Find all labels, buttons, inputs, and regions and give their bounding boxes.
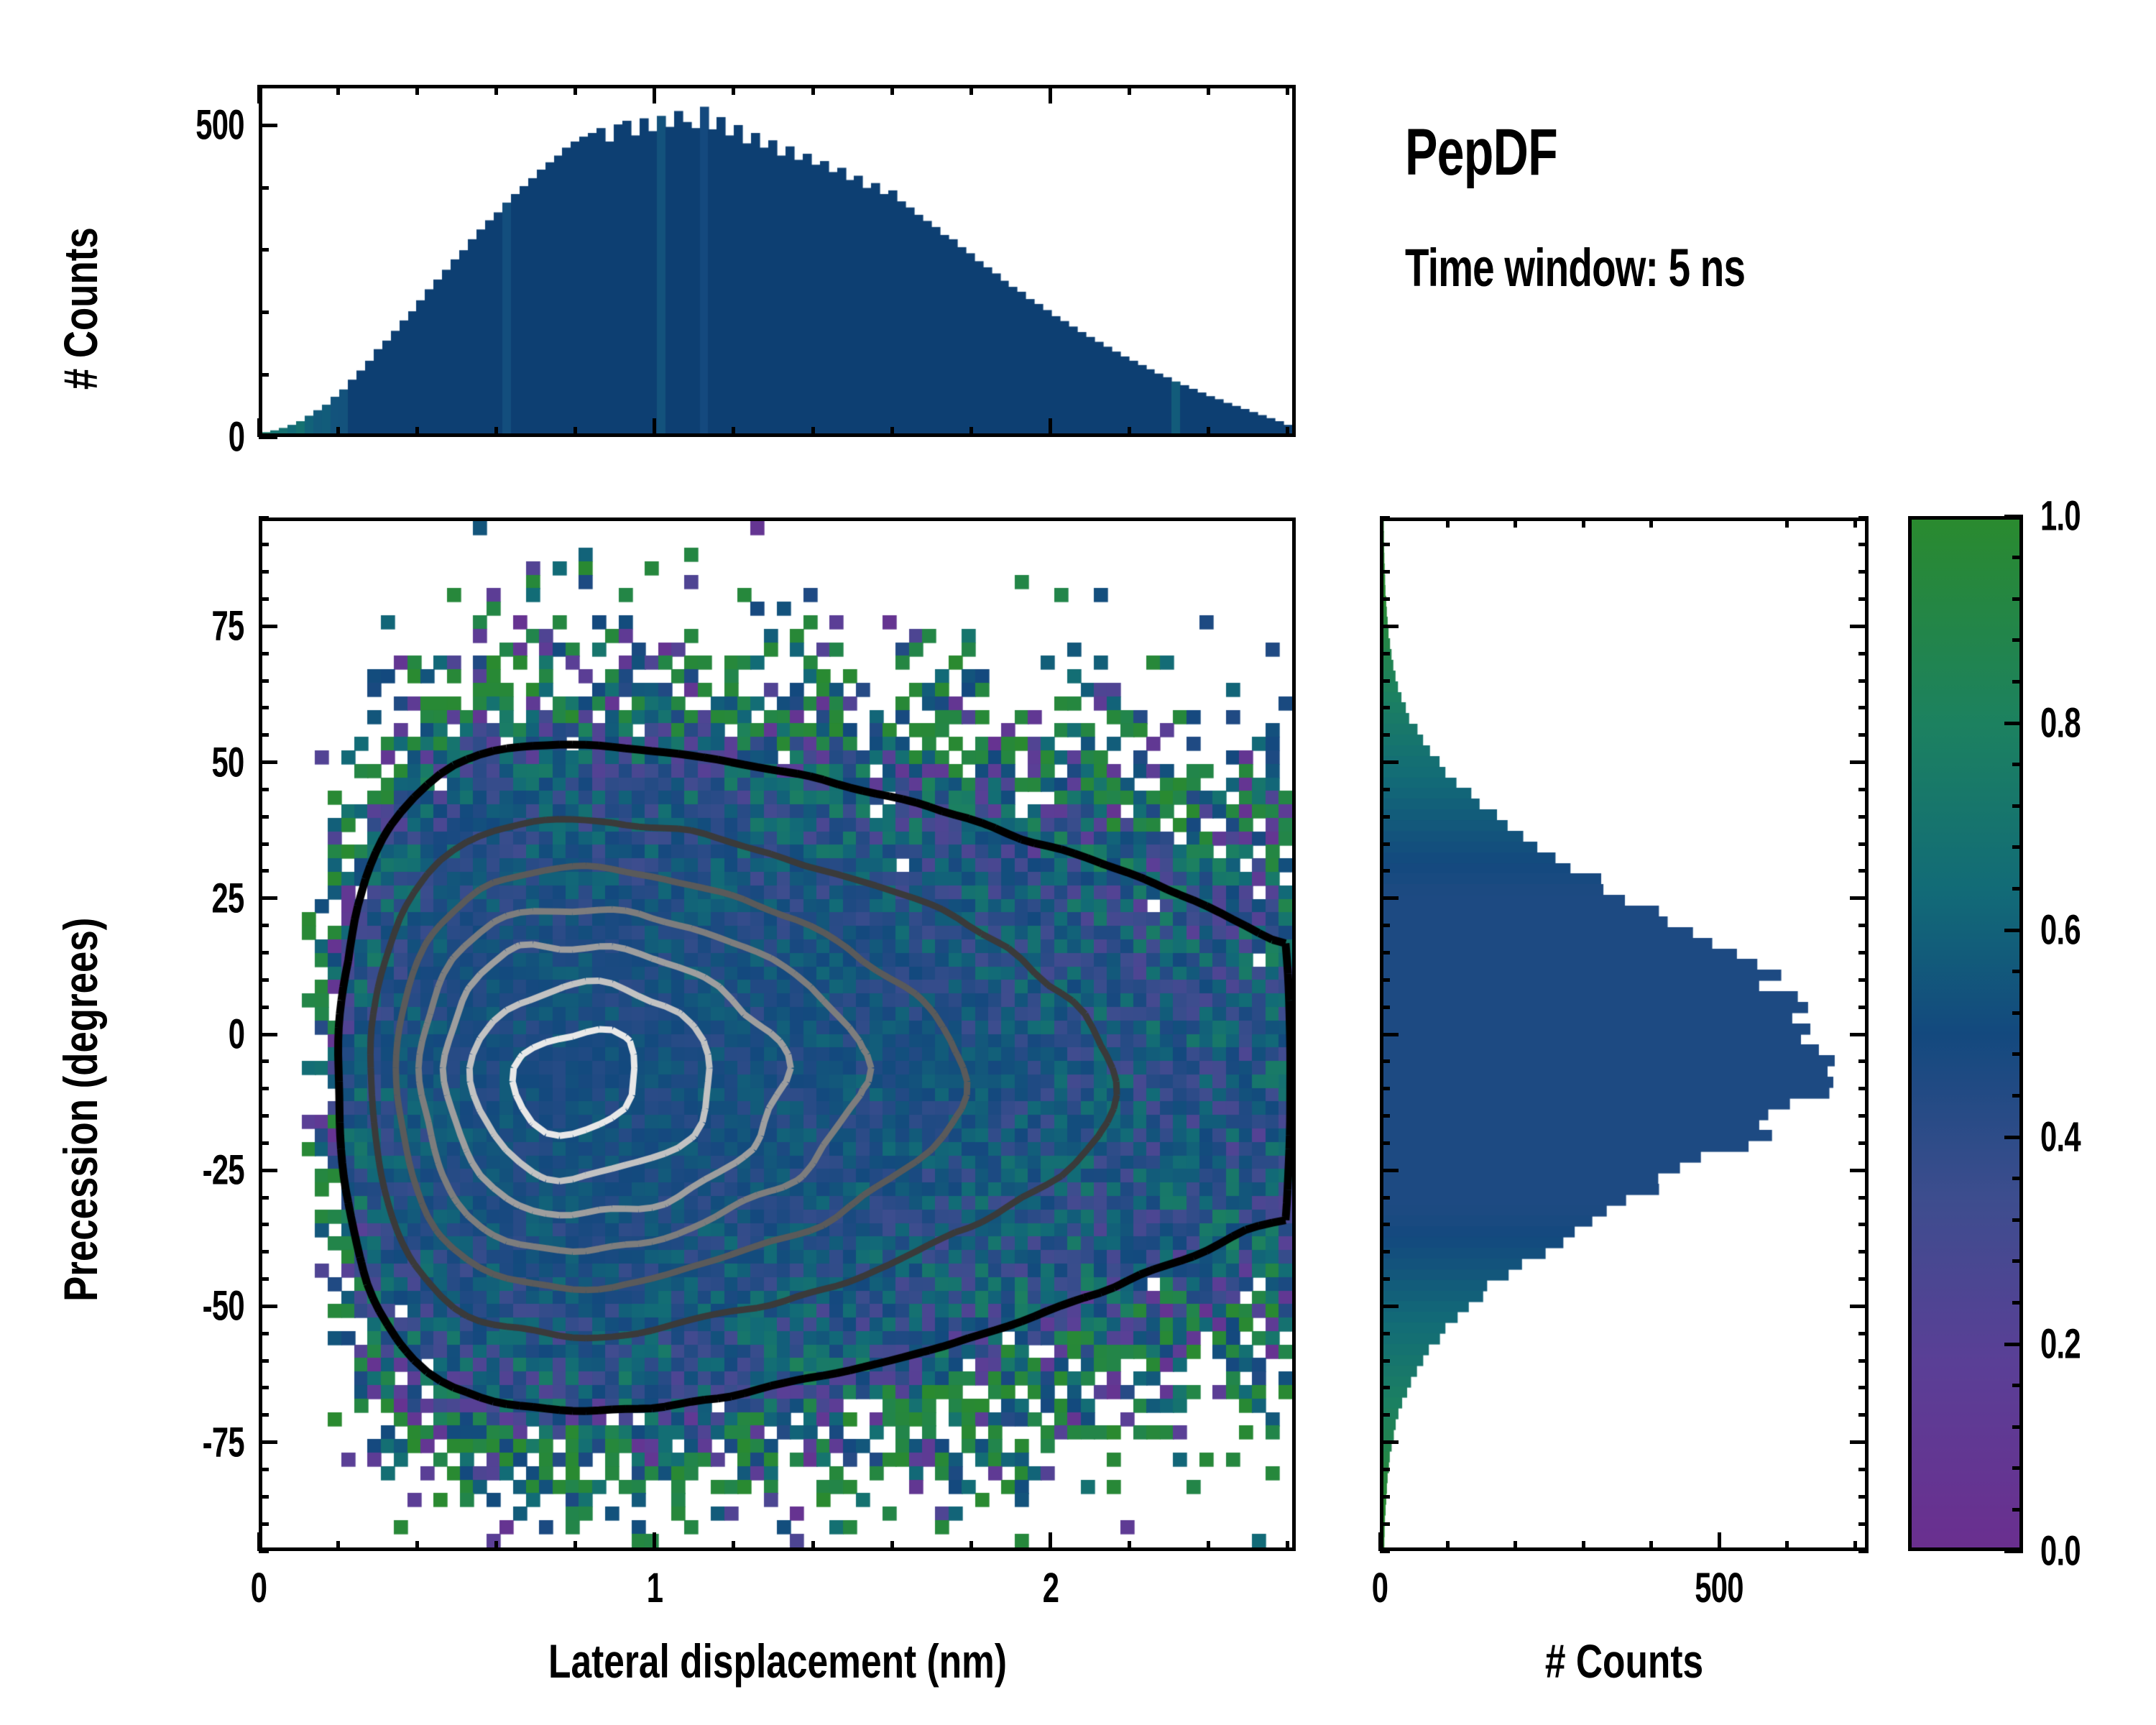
figure-root: 0500 # Counts 0127550250-25-50-75 Latera… [0, 0, 2156, 1725]
right-ytick-mirror [1858, 815, 1869, 819]
right-ytick-mirror [1858, 1386, 1869, 1389]
xtick-major [1049, 1532, 1052, 1551]
colorbar-tick-minor [2012, 970, 2023, 973]
figure-title: PepDF [1405, 115, 1557, 190]
ytick-minor [259, 1386, 269, 1389]
right-ytick [1380, 1033, 1399, 1036]
right-ytick [1380, 570, 1390, 574]
ytick-minor [259, 788, 269, 791]
ytick-minor [259, 1413, 269, 1417]
colorbar-tick-minor [2012, 1384, 2023, 1387]
colorbar-tick-minor [2012, 638, 2023, 642]
right-ytick-mirror [1850, 1440, 1869, 1444]
right-ytick-mirror [1858, 1196, 1869, 1200]
ytick-minor [259, 1141, 269, 1145]
right-ytick [1380, 543, 1390, 546]
right-xtick-minor [1649, 1541, 1653, 1551]
right-ytick-mirror [1858, 1413, 1869, 1417]
colorbar-tick-minor [2012, 1052, 2023, 1056]
ytick-minor [259, 1277, 269, 1281]
xtick-minor [811, 1541, 815, 1551]
ytick-minor [259, 652, 269, 655]
ytick-minor [259, 597, 269, 601]
ytick-minor [259, 1223, 269, 1226]
top-ytick-minor [259, 186, 269, 190]
xtick-label: 2 [1042, 1564, 1059, 1612]
right-ytick [1380, 1305, 1399, 1308]
ytick-major [259, 896, 277, 900]
ytick-minor [259, 679, 269, 683]
right-xtick-major [1718, 1532, 1721, 1551]
top-ytick-major [259, 436, 277, 439]
right-ytick [1380, 1413, 1390, 1417]
right-ytick-mirror [1858, 1550, 1869, 1553]
top-ytick-label: 500 [195, 101, 244, 149]
top-xtick-upper [811, 85, 815, 95]
top-xtick-upper [653, 85, 656, 103]
ytick-label: 25 [212, 874, 244, 922]
top-xtick-upper [890, 85, 894, 95]
colorbar-tick-minor [2012, 680, 2023, 684]
top-xtick-upper [1049, 85, 1052, 103]
colorbar-tick-minor [2012, 1218, 2023, 1222]
top-xtick [890, 427, 894, 437]
xtick-minor [1286, 1541, 1289, 1551]
xtick-minor [969, 1541, 973, 1551]
right-ytick-mirror [1850, 896, 1869, 900]
colorbar-tick-label: 0.6 [2040, 906, 2081, 954]
colorbar-tick-major [2004, 1136, 2023, 1139]
colorbar-tick-minor [2012, 1301, 2023, 1305]
right-ytick [1380, 516, 1390, 520]
right-ytick [1380, 788, 1390, 791]
top-xtick [732, 427, 735, 437]
ytick-minor [259, 978, 269, 982]
right-ytick-mirror [1858, 1277, 1869, 1281]
right-xtick-upper [1785, 517, 1789, 528]
main-yaxis-label: Precession (degrees) [53, 918, 108, 1302]
ytick-minor [259, 1196, 269, 1200]
main-xaxis-label: Lateral displacement (nm) [548, 1634, 1007, 1688]
colorbar-tick-minor [2012, 804, 2023, 808]
top-ytick-label: 0 [228, 413, 244, 461]
xtick-minor [890, 1541, 894, 1551]
top-xtick [1207, 427, 1210, 437]
colorbar-tick-minor [2012, 1011, 2023, 1015]
right-ytick-mirror [1858, 679, 1869, 683]
ytick-minor [259, 951, 269, 954]
colorbar-tick-major [2004, 1343, 2023, 1346]
right-ytick-mirror [1858, 1495, 1869, 1499]
right-ytick [1380, 924, 1390, 927]
right-xtick-upper [1514, 517, 1517, 528]
colorbar-tick-label: 0.4 [2040, 1113, 2081, 1161]
top-ytick-minor [259, 373, 269, 377]
colorbar-tick-minor [2012, 1177, 2023, 1180]
colorbar-tick-major [2004, 515, 2023, 518]
right-ytick [1380, 1196, 1390, 1200]
right-ytick [1380, 1359, 1390, 1363]
right-ytick-mirror [1858, 1114, 1869, 1118]
top-xtick [336, 427, 340, 437]
colorbar-tick-minor [2012, 597, 2023, 601]
colorbar-panel [1908, 516, 2023, 1551]
ytick-minor [259, 1332, 269, 1335]
ytick-minor [259, 842, 269, 846]
right-ytick [1380, 896, 1399, 900]
ytick-minor [259, 1468, 269, 1471]
colorbar-tick-major [2004, 722, 2023, 725]
right-ytick-mirror [1858, 842, 1869, 846]
right-xtick-label: 500 [1695, 1564, 1743, 1612]
top-xtick-upper [732, 85, 735, 95]
right-xtick-label: 0 [1372, 1564, 1388, 1612]
colorbar-tick-major [2004, 1550, 2023, 1553]
right-ytick-mirror [1858, 869, 1869, 873]
ytick-label: 0 [228, 1011, 244, 1059]
top-xtick [415, 427, 419, 437]
right-xtick-minor [1582, 1541, 1585, 1551]
right-ytick-mirror [1850, 1169, 1869, 1172]
right-xtick-upper [1446, 517, 1450, 528]
xtick-major [653, 1532, 656, 1551]
right-histogram-xlabel: # Counts [1545, 1634, 1703, 1688]
colorbar-tick-minor [2012, 1466, 2023, 1470]
ytick-minor [259, 1522, 269, 1526]
ytick-minor [259, 516, 269, 520]
right-ytick [1380, 1250, 1390, 1253]
right-xtick-minor [1514, 1541, 1517, 1551]
right-ytick [1380, 679, 1390, 683]
right-ytick [1380, 652, 1390, 655]
colorbar-tick-minor [2012, 845, 2023, 849]
right-ytick [1380, 1059, 1390, 1063]
right-ytick-mirror [1858, 1468, 1869, 1471]
top-xtick-upper [336, 85, 340, 95]
ytick-major [259, 625, 277, 628]
right-ytick [1380, 842, 1390, 846]
top-xtick-upper [1128, 85, 1131, 95]
xtick-major [257, 1532, 261, 1551]
right-ytick [1380, 706, 1390, 709]
right-ytick-mirror [1850, 625, 1869, 628]
right-xtick-upper [1853, 517, 1857, 528]
xtick-label: 0 [251, 1564, 267, 1612]
right-ytick-mirror [1858, 706, 1869, 709]
right-ytick [1380, 1440, 1399, 1444]
ytick-label: -50 [203, 1282, 244, 1330]
ytick-minor [259, 1250, 269, 1253]
ytick-label: -25 [203, 1146, 244, 1195]
ytick-minor [259, 815, 269, 819]
right-ytick [1380, 1468, 1390, 1471]
right-ytick-mirror [1858, 1223, 1869, 1226]
right-ytick-mirror [1850, 1305, 1869, 1308]
colorbar-tick-minor [2012, 1508, 2023, 1512]
right-ytick-mirror [1858, 788, 1869, 791]
ytick-label: 50 [212, 738, 244, 786]
right-xtick-minor [1853, 1541, 1857, 1551]
ytick-minor [259, 1114, 269, 1118]
right-ytick-mirror [1858, 1087, 1869, 1090]
top-marginal-histogram-panel [259, 85, 1296, 437]
top-xtick-upper [969, 85, 973, 95]
right-ytick [1380, 733, 1390, 737]
ytick-minor [259, 706, 269, 709]
xtick-label: 1 [646, 1564, 663, 1612]
xtick-minor [1128, 1541, 1131, 1551]
ytick-label: 75 [212, 602, 244, 650]
right-histogram-canvas [1383, 521, 1865, 1547]
top-xtick-upper [257, 85, 261, 103]
xtick-minor [336, 1541, 340, 1551]
right-ytick-mirror [1858, 733, 1869, 737]
right-ytick [1380, 1141, 1390, 1145]
xtick-minor [415, 1541, 419, 1551]
xtick-minor [1207, 1541, 1210, 1551]
figure-subtitle: Time window: 5 ns [1405, 237, 1745, 298]
right-ytick [1380, 597, 1390, 601]
right-ytick-mirror [1858, 543, 1869, 546]
colorbar-tick-minor [2012, 556, 2023, 559]
right-xtick-minor [1446, 1541, 1450, 1551]
colorbar-tick-minor [2012, 763, 2023, 766]
xtick-minor [494, 1541, 498, 1551]
colorbar-tick-label: 0.0 [2040, 1527, 2081, 1575]
right-ytick [1380, 1223, 1390, 1226]
ytick-minor [259, 1550, 269, 1553]
right-ytick [1380, 1087, 1390, 1090]
ytick-minor [259, 1495, 269, 1499]
top-histogram-canvas [262, 88, 1292, 433]
top-xtick-upper [1207, 85, 1210, 95]
right-ytick [1380, 1277, 1390, 1281]
ytick-minor [259, 570, 269, 574]
right-ytick [1380, 1006, 1390, 1009]
right-ytick-mirror [1850, 1033, 1869, 1036]
right-xtick-upper [1649, 517, 1653, 528]
right-ytick-mirror [1858, 1332, 1869, 1335]
ytick-minor [259, 1006, 269, 1009]
right-ytick [1380, 625, 1399, 628]
main-heatmap-panel [259, 517, 1296, 1551]
right-ytick-mirror [1858, 924, 1869, 927]
right-ytick-mirror [1858, 1006, 1869, 1009]
top-xtick [653, 418, 656, 437]
right-ytick [1380, 951, 1390, 954]
right-ytick-mirror [1858, 516, 1869, 520]
top-xtick [811, 427, 815, 437]
right-ytick-mirror [1858, 951, 1869, 954]
right-ytick [1380, 815, 1390, 819]
colorbar-tick-label: 0.2 [2040, 1320, 2081, 1368]
top-xtick [969, 427, 973, 437]
right-ytick-mirror [1858, 597, 1869, 601]
right-xtick-minor [1785, 1541, 1789, 1551]
right-ytick-mirror [1858, 1059, 1869, 1063]
right-ytick [1380, 1522, 1390, 1526]
right-ytick-mirror [1858, 1250, 1869, 1253]
ytick-minor [259, 1059, 269, 1063]
right-ytick [1380, 1550, 1390, 1553]
ytick-major [259, 1033, 277, 1036]
top-ytick-minor [259, 310, 269, 314]
top-xtick-upper [1286, 85, 1289, 95]
top-xtick [494, 427, 498, 437]
colorbar-gradient [1912, 520, 2019, 1547]
ytick-major [259, 1305, 277, 1308]
top-histogram-ylabel: # Counts [53, 227, 108, 390]
colorbar-tick-minor [2012, 887, 2023, 891]
right-ytick [1380, 760, 1399, 764]
right-ytick-mirror [1858, 1522, 1869, 1526]
right-xtick-major [1378, 1532, 1382, 1551]
right-ytick [1380, 1169, 1399, 1172]
xtick-minor [573, 1541, 577, 1551]
ytick-minor [259, 869, 269, 873]
right-ytick [1380, 1386, 1390, 1389]
top-xtick [1128, 427, 1131, 437]
xtick-minor [732, 1541, 735, 1551]
ytick-minor [259, 543, 269, 546]
top-xtick [573, 427, 577, 437]
colorbar-tick-minor [2012, 1094, 2023, 1098]
right-ytick-mirror [1858, 1359, 1869, 1363]
right-ytick [1380, 1114, 1390, 1118]
right-ytick [1380, 869, 1390, 873]
ytick-major [259, 760, 277, 764]
ytick-minor [259, 924, 269, 927]
top-ytick-major [259, 124, 277, 127]
colorbar-tick-label: 1.0 [2040, 492, 2081, 540]
top-xtick-upper [415, 85, 419, 95]
colorbar-tick-minor [2012, 1259, 2023, 1263]
top-xtick [1049, 418, 1052, 437]
top-xtick-upper [494, 85, 498, 95]
colorbar-tick-label: 0.8 [2040, 699, 2081, 747]
right-xtick-upper [1582, 517, 1585, 528]
ytick-label: -75 [203, 1418, 244, 1466]
right-marginal-histogram-panel [1380, 517, 1869, 1551]
ytick-major [259, 1169, 277, 1172]
top-xtick [257, 418, 261, 437]
ytick-minor [259, 1359, 269, 1363]
right-ytick-mirror [1858, 570, 1869, 574]
right-ytick [1380, 978, 1390, 982]
ytick-minor [259, 733, 269, 737]
top-xtick-upper [573, 85, 577, 95]
right-ytick-mirror [1858, 978, 1869, 982]
right-ytick [1380, 1332, 1390, 1335]
ytick-minor [259, 1087, 269, 1090]
right-ytick [1380, 1495, 1390, 1499]
colorbar-tick-major [2004, 929, 2023, 932]
top-xtick [1286, 427, 1289, 437]
right-ytick-mirror [1858, 652, 1869, 655]
right-ytick-mirror [1858, 1141, 1869, 1145]
top-ytick-minor [259, 248, 269, 252]
contour-overlay-canvas [262, 521, 1292, 1547]
ytick-major [259, 1440, 277, 1444]
colorbar-tick-minor [2012, 1425, 2023, 1429]
right-ytick-mirror [1850, 760, 1869, 764]
